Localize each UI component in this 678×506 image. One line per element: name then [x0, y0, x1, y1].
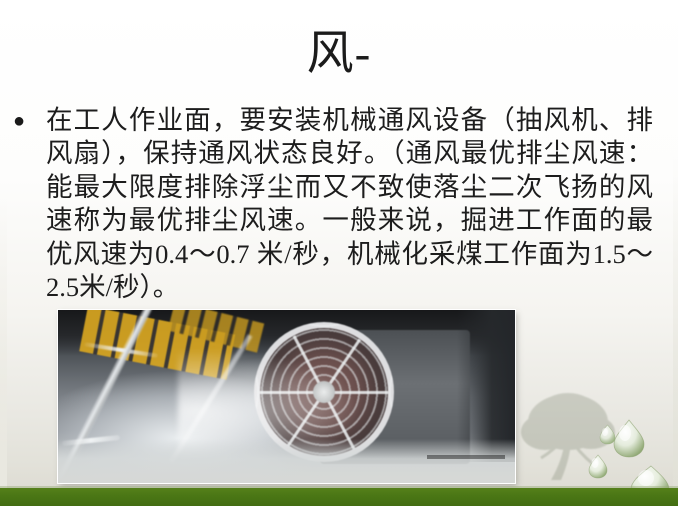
slide-photo: [58, 310, 515, 483]
water-droplet-large-icon: [612, 418, 646, 458]
bullet-marker-icon: ●: [13, 104, 46, 126]
presentation-slide: 风- ● 在工人作业面，要安装机械通风设备（抽风机、排风扇），保持通风状态良好。…: [0, 0, 678, 506]
tree-silhouette-icon: [521, 386, 619, 486]
photo-floor-mist: [58, 439, 515, 483]
water-droplet-small-icon: [588, 454, 608, 479]
slide-title: 风-: [0, 26, 678, 82]
slide-body: ● 在工人作业面，要安装机械通风设备（抽风机、排风扇），保持通风状态良好。（通风…: [13, 104, 653, 304]
bullet-glyph: ●: [13, 116, 25, 126]
water-droplet-tiny-icon: [599, 424, 616, 445]
bullet-paragraph-text: 在工人作业面，要安装机械通风设备（抽风机、排风扇），保持通风状态良好。（通风最优…: [46, 104, 653, 304]
footer-green-bar: [0, 488, 678, 506]
bullet-list-item: ● 在工人作业面，要安装机械通风设备（抽风机、排风扇），保持通风状态良好。（通风…: [13, 104, 653, 304]
photo-watermark-strip: [427, 455, 505, 459]
